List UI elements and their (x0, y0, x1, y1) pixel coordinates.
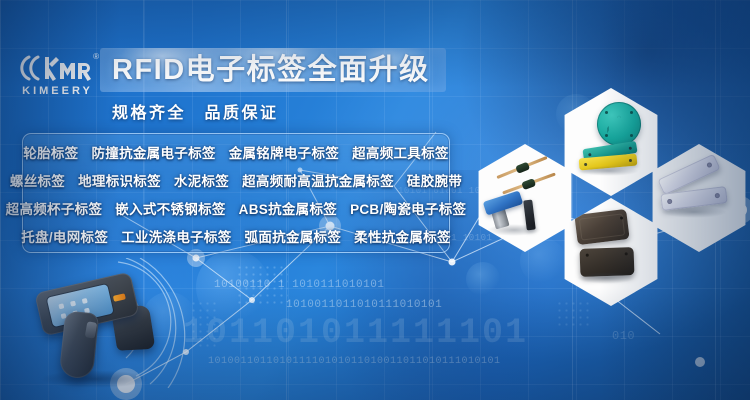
binary-stream: 010 (612, 329, 635, 343)
product-hexagon-white-anti-metal-tags[interactable] (645, 144, 750, 252)
binary-stream: 1010011011010111101010110100110110101110… (208, 356, 501, 367)
product-hexagon-dark-anti-metal-tags[interactable] (557, 198, 665, 306)
product-shadow (487, 224, 541, 236)
screen-app-icon (82, 298, 88, 304)
product-shadow (579, 166, 639, 176)
dot-matrix (190, 300, 218, 348)
product-hexagon-disc-and-bar-tags[interactable] (557, 88, 665, 196)
mount-hole (629, 158, 632, 161)
tag-item[interactable]: 工业洗涤电子标签 (121, 226, 231, 246)
tag-item[interactable]: ABS抗金属标签 (239, 198, 337, 218)
tag-row: 螺丝标签 地理标识标签 水泥标签 超高频耐高温抗金属标签 硅胶腕带 (23, 166, 449, 194)
dot-matrix (236, 264, 288, 304)
tag-item[interactable]: 嵌入式不锈钢标签 (115, 198, 225, 218)
mount-hole (588, 152, 591, 155)
product-shadow (577, 272, 635, 284)
device-shadow (40, 370, 150, 388)
brand-logo[interactable]: ® KIMEERY (14, 52, 98, 104)
glass-tag-coil (514, 161, 529, 173)
scan-indicator-led (113, 293, 126, 302)
mount-hole (605, 111, 608, 114)
rfid-product-banner: 10100110 1 1010111010101 101001101101011… (0, 0, 750, 400)
bokeh-circle (196, 250, 270, 324)
tag-item[interactable]: 超高频工具标签 (352, 142, 449, 162)
tag-item[interactable]: 柔性抗金属标签 (354, 226, 451, 246)
mount-screw (715, 193, 721, 199)
tag-item[interactable]: PCB/陶瓷电子标签 (350, 198, 466, 218)
tag-item[interactable]: 轮胎标签 (23, 142, 78, 162)
hexagon-products (557, 88, 665, 196)
mount-hole (630, 111, 633, 114)
mount-hole (630, 134, 633, 137)
tag-item[interactable]: 超高频耐高温抗金属标签 (242, 170, 394, 190)
glass-tube-tag (496, 156, 547, 179)
binary-stream-large: 101101011111101 (183, 313, 528, 353)
tag-item[interactable]: 水泥标签 (174, 170, 229, 190)
teal-round-disc-tag (597, 102, 641, 146)
binary-stream: 1010011011010111010101 (286, 299, 442, 311)
handheld-rfid-reader[interactable] (34, 278, 154, 388)
tag-item[interactable]: 托盘/电网标签 (21, 226, 108, 246)
tag-item[interactable]: 硅胶腕带 (407, 170, 462, 190)
tag-row: 超高频杯子标签 嵌入式不锈钢标签 ABS抗金属标签 PCB/陶瓷电子标签 (23, 194, 449, 222)
glass-tag-coil (521, 178, 536, 190)
mount-hole (625, 252, 628, 255)
dot-matrix (556, 300, 590, 326)
tag-rim (579, 213, 625, 240)
mount-hole (586, 254, 589, 257)
hexagon-products (557, 198, 665, 306)
product-hexagon-glass-and-blue-tags[interactable] (471, 144, 579, 252)
tag-list-panel: 轮胎标签 防撞抗金属电子标签 金属铭牌电子标签 超高频工具标签 螺丝标签 地理标… (22, 133, 450, 253)
binary-stream: 10100110 1 1010111010101 (214, 279, 384, 291)
mount-hole (584, 162, 587, 165)
screen-app-icon (58, 303, 64, 309)
page-title: RFID电子标签全面升级 (112, 51, 442, 89)
tag-item[interactable]: 弧面抗金属标签 (245, 226, 342, 246)
bokeh-circle (466, 262, 500, 296)
mount-screw (706, 162, 713, 169)
tag-row: 轮胎标签 防撞抗金属电子标签 金属铭牌电子标签 超高频工具标签 (23, 138, 449, 166)
dark-rectangular-anti-metal-tag (574, 209, 629, 245)
page-subtitle: 规格齐全 品质保证 (112, 99, 279, 123)
glass-tube-tag (502, 173, 556, 195)
hexagon-products (645, 144, 750, 252)
mount-hole (629, 146, 632, 149)
tag-row: 托盘/电网标签 工业洗涤电子标签 弧面抗金属标签 柔性抗金属标签 (23, 222, 449, 250)
tag-item[interactable]: 超高频杯子标签 (6, 198, 103, 218)
tag-item[interactable]: 地理标识标签 (78, 170, 161, 190)
tag-item[interactable]: 螺丝标签 (10, 170, 65, 190)
registered-trademark-icon: ® (93, 52, 99, 61)
hexagon-products (471, 144, 579, 252)
tag-item[interactable]: 防撞抗金属电子标签 (91, 142, 215, 162)
brand-wordmark: KIMEERY (14, 85, 98, 97)
tag-rim (580, 247, 634, 249)
screen-app-icon (70, 301, 76, 307)
kimeery-monogram-icon: ® (14, 52, 98, 84)
mount-screw (667, 199, 673, 205)
mount-hole (605, 134, 608, 137)
tag-item[interactable]: 金属铭牌电子标签 (229, 142, 339, 162)
product-shadow (661, 206, 727, 218)
